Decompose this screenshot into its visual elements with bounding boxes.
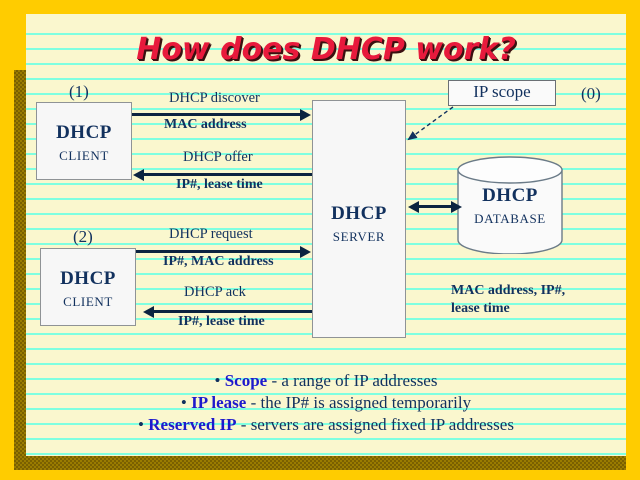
flow-dhcp-offer-primary: DHCP offer [183,149,253,166]
slide-content: How does DHCP work? (1) (2) (0) DHCP CLI… [26,14,626,456]
database-note: MAC address, IP#, lease time [451,282,565,318]
flow-dhcp-ack-arrowhead [143,306,154,318]
page-title: How does DHCP work? [26,32,626,67]
flow-dhcp-discover-secondary: MAC address [164,117,247,133]
list-item: • IP lease - the IP# is assigned tempora… [26,392,626,414]
bullet-term: IP lease [191,393,246,412]
slide-canvas: How does DHCP work? (1) (2) (0) DHCP CLI… [0,0,640,480]
dhcp-client-2-box[interactable]: DHCP CLIENT [40,248,136,326]
dhcp-client-2-title: DHCP [41,269,135,289]
flow-dhcp-offer-arrowhead [133,169,144,181]
bullet-rest: - the IP# is assigned temporarily [246,393,471,412]
dhcp-database-title: DHCP [456,186,564,206]
bullet-term: Scope [225,371,268,390]
dhcp-client-1-title: DHCP [37,123,131,143]
list-item: • Reserved IP - servers are assigned fix… [26,414,626,436]
dhcp-client-2-subtitle: CLIENT [41,295,135,309]
step-label-1: (1) [69,82,89,102]
server-database-line [414,205,454,208]
dhcp-server-subtitle: SERVER [313,230,405,244]
ip-scope-label: IP scope [473,82,530,101]
database-note-line-2: lease time [451,300,565,318]
bullet-dot: • [138,415,144,434]
database-note-line-1: MAC address, IP#, [451,282,565,300]
dhcp-client-1-subtitle: CLIENT [37,149,131,163]
bullet-dot: • [181,393,187,412]
definitions-list: • Scope - a range of IP addresses • IP l… [26,370,626,436]
flow-dhcp-request-line [136,250,301,253]
flow-dhcp-offer-secondary: IP#, lease time [176,177,263,193]
dhcp-server-title: DHCP [313,204,405,224]
flow-dhcp-request-secondary: IP#, MAC address [163,254,274,270]
dhcp-server-box[interactable]: DHCP SERVER [312,100,406,338]
bullet-term: Reserved IP [148,415,236,434]
ip-scope-callout[interactable]: IP scope [448,80,556,106]
flow-dhcp-discover-arrowhead [300,109,311,121]
bullet-rest: - a range of IP addresses [267,371,437,390]
bullet-dot: • [215,371,221,390]
ip-scope-dashed-arrow [396,104,460,146]
bullet-rest: - servers are assigned fixed IP addresse… [237,415,514,434]
dhcp-database-cylinder[interactable]: DHCP DATABASE [456,156,564,254]
list-item: • Scope - a range of IP addresses [26,370,626,392]
flow-dhcp-ack-primary: DHCP ack [184,284,246,301]
step-label-2: (2) [73,227,93,247]
dhcp-client-1-box[interactable]: DHCP CLIENT [36,102,132,180]
flow-dhcp-offer-line [144,173,312,176]
server-database-arrowhead-right [451,201,462,213]
flow-dhcp-discover-line [132,113,301,116]
flow-dhcp-ack-line [154,310,312,313]
server-database-arrowhead-left [408,201,419,213]
notebook-paper: How does DHCP work? (1) (2) (0) DHCP CLI… [26,14,626,456]
flow-dhcp-request-primary: DHCP request [169,226,253,243]
flow-dhcp-discover-primary: DHCP discover [169,90,260,107]
flow-dhcp-ack-secondary: IP#, lease time [178,314,265,330]
flow-dhcp-request-arrowhead [300,246,311,258]
step-label-0: (0) [581,84,601,104]
dhcp-database-subtitle: DATABASE [456,212,564,226]
